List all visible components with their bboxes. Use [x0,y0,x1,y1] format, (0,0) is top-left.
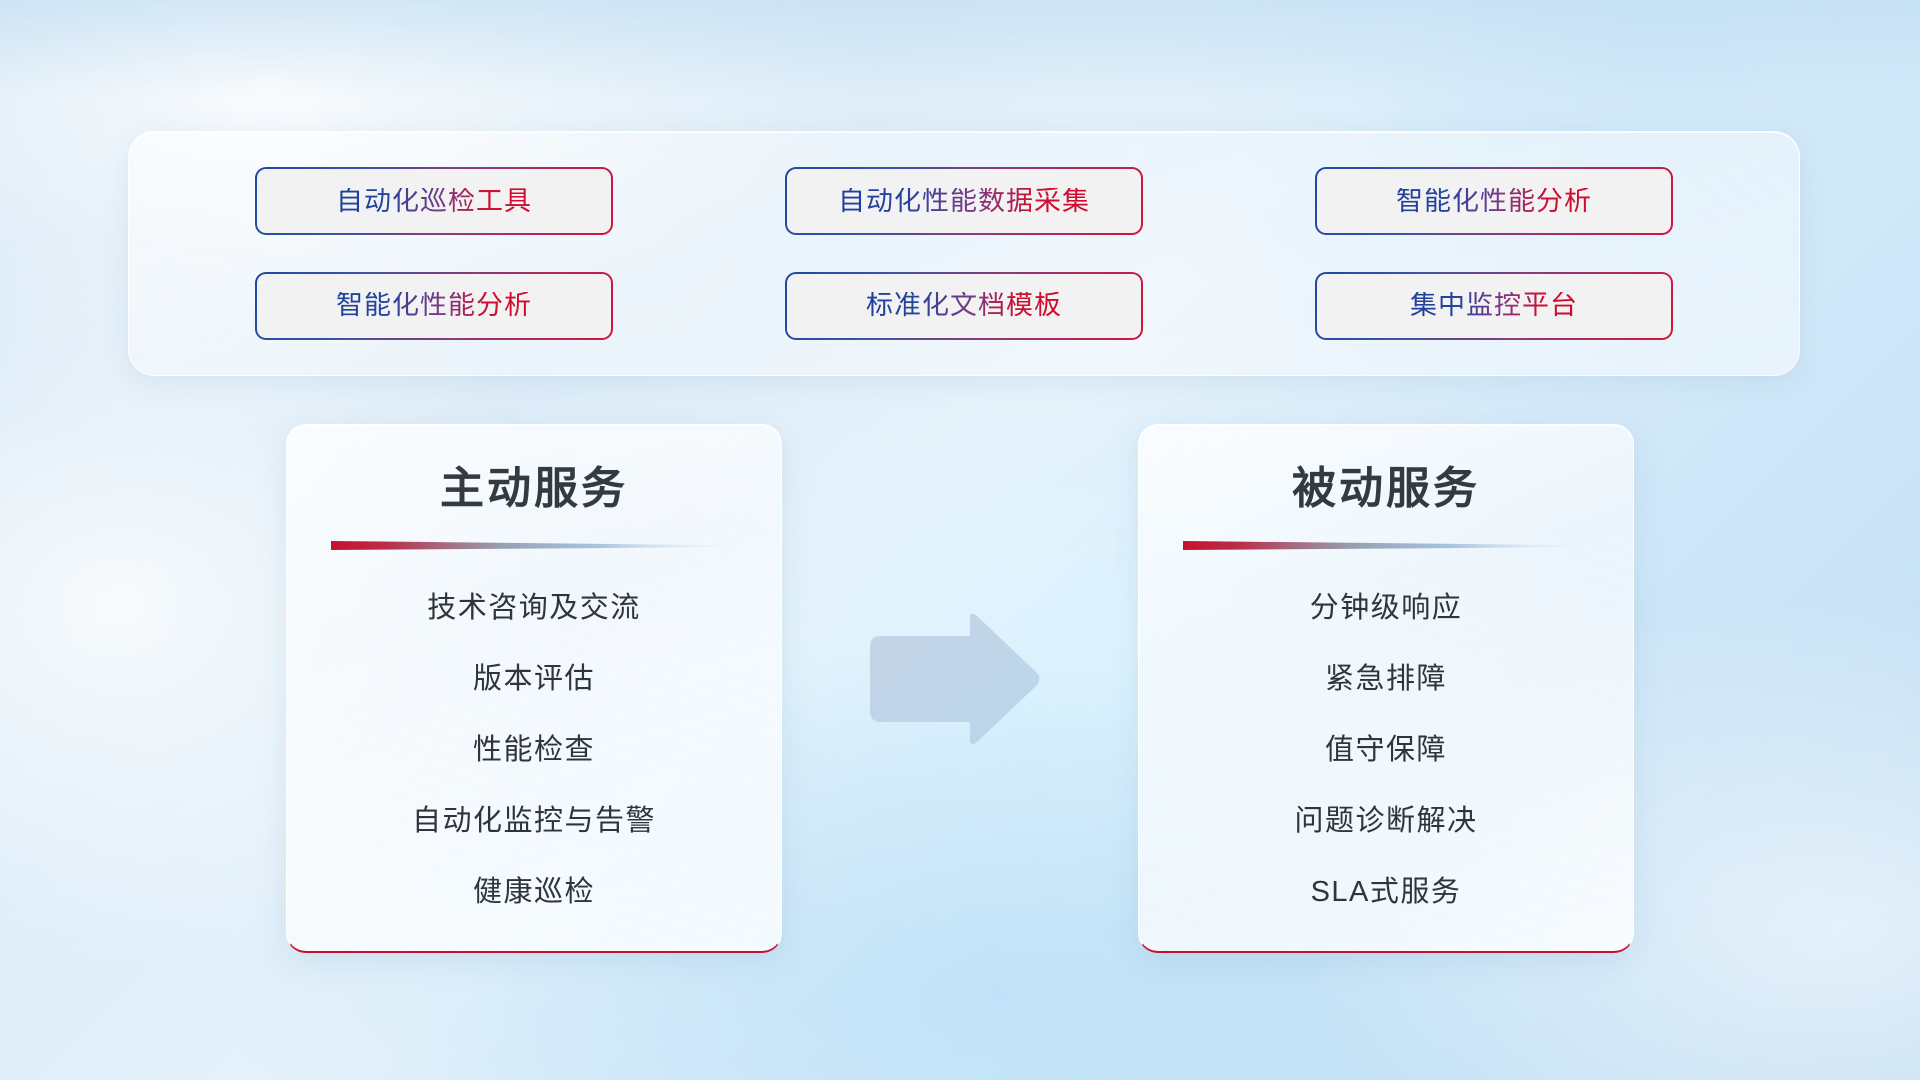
service-list-item: 分钟级响应 [1183,573,1589,644]
card-title: 主动服务 [331,465,737,513]
capability-pill-label: 自动化性能数据采集 [838,188,1090,215]
service-list-item: 健康巡检 [331,857,737,928]
service-list-item: 问题诊断解决 [1183,786,1589,857]
service-list-item: 值守保障 [1183,715,1589,786]
arrow-right-icon [866,614,1042,744]
capability-pill[interactable]: 智能化性能分析 [255,272,613,340]
capability-pill-body: 自动化巡检工具 [257,169,611,233]
capability-pill-body: 自动化性能数据采集 [787,169,1141,233]
title-divider [1183,539,1589,551]
service-list-item: 版本评估 [331,644,737,715]
service-list: 技术咨询及交流版本评估性能检查自动化监控与告警健康巡检 [331,559,737,928]
capability-pill[interactable]: 标准化文档模板 [785,272,1143,340]
service-list: 分钟级响应紧急排障值守保障问题诊断解决SLA式服务 [1183,559,1589,928]
capability-pill-body: 集中监控平台 [1317,274,1671,338]
capability-pill-label: 智能化性能分析 [1396,188,1592,215]
capability-pill-label: 标准化文档模板 [866,292,1062,319]
capability-pill-body: 标准化文档模板 [787,274,1141,338]
title-divider [331,539,737,551]
service-list-item: 性能检查 [331,715,737,786]
capability-pill[interactable]: 自动化性能数据采集 [785,167,1143,235]
service-list-item: 技术咨询及交流 [331,573,737,644]
capability-pill-body: 智能化性能分析 [1317,169,1671,233]
capability-pill[interactable]: 智能化性能分析 [1315,167,1673,235]
capability-pill-label: 智能化性能分析 [336,292,532,319]
capability-pill[interactable]: 自动化巡检工具 [255,167,613,235]
service-card-active: 主动服务 技术咨询及交流版本评估性能检查自动化监控与告警健康巡检 [286,424,782,953]
capability-pill[interactable]: 集中监控平台 [1315,272,1673,340]
capability-pill-body: 智能化性能分析 [257,274,611,338]
service-list-item: 自动化监控与告警 [331,786,737,857]
card-title: 被动服务 [1183,465,1589,513]
service-list-item: SLA式服务 [1183,857,1589,928]
capability-pill-label: 集中监控平台 [1410,292,1578,319]
capability-panel: 自动化巡检工具自动化性能数据采集智能化性能分析智能化性能分析标准化文档模板集中监… [128,131,1800,376]
service-list-item: 紧急排障 [1183,644,1589,715]
capability-pill-label: 自动化巡检工具 [336,188,532,215]
service-card-passive: 被动服务 分钟级响应紧急排障值守保障问题诊断解决SLA式服务 [1138,424,1634,953]
